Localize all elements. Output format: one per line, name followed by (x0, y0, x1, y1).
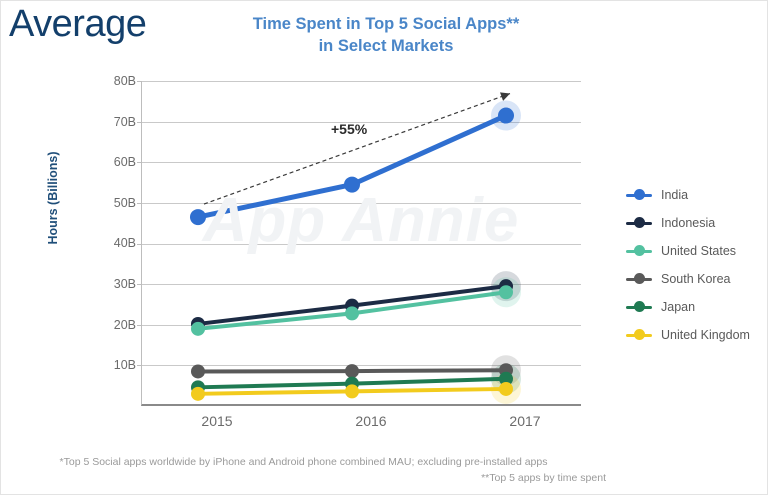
title-line-1: Time Spent in Top 5 Social Apps** (196, 13, 576, 35)
legend-item-south-korea[interactable]: South Korea (626, 265, 766, 293)
legend-swatch-icon (626, 301, 652, 313)
brand-wordmark: Average (9, 1, 146, 47)
data-point[interactable] (345, 306, 359, 320)
y-tick-10b: 10B (96, 359, 136, 371)
legend-item-japan[interactable]: Japan (626, 293, 766, 321)
legend-label: United States (661, 244, 736, 258)
y-tick-50b: 50B (96, 197, 136, 209)
legend-label: South Korea (661, 272, 731, 286)
legend-swatch-icon (626, 273, 652, 285)
data-point[interactable] (498, 108, 514, 124)
legend: India Indonesia United States South Kore… (626, 181, 766, 349)
data-point[interactable] (499, 382, 513, 396)
legend-label: India (661, 188, 688, 202)
legend-label: Japan (661, 300, 695, 314)
chart-page: Average Time Spent in Top 5 Social Apps*… (0, 0, 768, 495)
data-point[interactable] (499, 285, 513, 299)
legend-item-united-states[interactable]: United States (626, 237, 766, 265)
legend-item-united-kingdom[interactable]: United Kingdom (626, 321, 766, 349)
footnote-2: **Top 5 apps by time spent (1, 470, 606, 486)
data-point[interactable] (190, 209, 206, 225)
y-tick-40b: 40B (96, 237, 136, 249)
y-tick-70b: 70B (96, 116, 136, 128)
footnote-1: *Top 5 Social apps worldwide by iPhone a… (1, 454, 606, 470)
x-tick-2017: 2017 (485, 413, 565, 429)
legend-label: United Kingdom (661, 328, 750, 342)
y-tick-80b: 80B (96, 75, 136, 87)
y-tick-30b: 30B (96, 278, 136, 290)
legend-swatch-icon (626, 189, 652, 201)
title-line-2: in Select Markets (196, 35, 576, 57)
y-axis-title: Hours (Billions) (46, 128, 60, 268)
data-point[interactable] (191, 322, 205, 336)
data-point[interactable] (345, 364, 359, 378)
legend-item-india[interactable]: India (626, 181, 766, 209)
legend-swatch-icon (626, 217, 652, 229)
data-point[interactable] (344, 177, 360, 193)
footnotes: *Top 5 Social apps worldwide by iPhone a… (1, 454, 606, 486)
data-point[interactable] (191, 364, 205, 378)
growth-annotation-label: +55% (331, 121, 367, 137)
x-tick-2016: 2016 (331, 413, 411, 429)
page-title: Time Spent in Top 5 Social Apps** in Sel… (196, 13, 576, 57)
y-tick-20b: 20B (96, 319, 136, 331)
data-point[interactable] (191, 387, 205, 401)
legend-item-indonesia[interactable]: Indonesia (626, 209, 766, 237)
y-tick-60b: 60B (96, 156, 136, 168)
legend-swatch-icon (626, 329, 652, 341)
legend-label: Indonesia (661, 216, 715, 230)
series-south-korea[interactable] (191, 363, 513, 378)
y-axis-ticks: 80B 70B 60B 50B 40B 30B 20B 10B (91, 81, 136, 406)
x-tick-2015: 2015 (177, 413, 257, 429)
legend-swatch-icon (626, 245, 652, 257)
data-point[interactable] (345, 384, 359, 398)
